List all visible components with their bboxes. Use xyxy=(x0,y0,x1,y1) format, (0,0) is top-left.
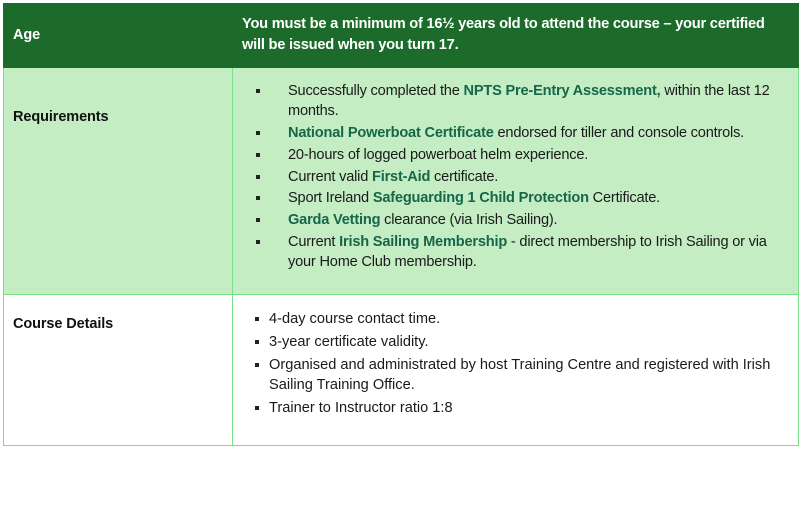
row-label-age: Age xyxy=(13,27,40,43)
row-label-cell-requirements: Requirements xyxy=(4,67,233,294)
list-item: National Powerboat Certificate endorsed … xyxy=(253,123,788,144)
course-requirements-table: Age You must be a minimum of 16½ years o… xyxy=(3,3,799,446)
list-item-text: endorsed for tiller and console controls… xyxy=(494,125,744,141)
list-item: Trainer to Instructor ratio 1:8 xyxy=(253,398,788,419)
row-content-cell-course-details: 4-day course contact time.3-year certifi… xyxy=(233,295,799,446)
list-item-accent-text: Garda Vetting xyxy=(288,212,380,228)
table-row-course-details: Course Details 4-day course contact time… xyxy=(4,295,799,446)
list-item-text: Current xyxy=(288,234,339,250)
list-item-text: Organised and administrated by host Trai… xyxy=(269,357,770,394)
list-item-text: Current valid xyxy=(288,169,372,185)
row-label-cell-course-details: Course Details xyxy=(4,295,233,446)
list-item-accent-text: First-Aid xyxy=(372,169,430,185)
row-label-requirements: Requirements xyxy=(13,109,109,125)
list-item-accent-text: Irish Sailing Membership xyxy=(339,234,507,250)
list-item: 20-hours of logged powerboat helm experi… xyxy=(253,145,788,166)
list-item-accent-text: National Powerboat Certificate xyxy=(288,125,494,141)
list-item: Garda Vetting clearance (via Irish Saili… xyxy=(253,210,788,231)
list-item-text: certificate. xyxy=(430,169,498,185)
row-label-cell-age: Age xyxy=(4,4,233,68)
list-item-text: Sport Ireland xyxy=(288,190,373,206)
row-content-cell-requirements: Successfully completed the NPTS Pre-Entr… xyxy=(233,67,799,294)
list-item: Current Irish Sailing Membership - direc… xyxy=(253,232,788,273)
list-item: Organised and administrated by host Trai… xyxy=(253,355,788,396)
list-item-text: Certificate. xyxy=(589,190,660,206)
row-label-course-details: Course Details xyxy=(13,316,113,332)
list-item: Sport Ireland Safeguarding 1 Child Prote… xyxy=(253,188,788,209)
list-item: 4-day course contact time. xyxy=(253,309,788,330)
requirements-list: Successfully completed the NPTS Pre-Entr… xyxy=(253,81,788,273)
list-item: Current valid First-Aid certificate. xyxy=(253,167,788,188)
list-item-text: 20-hours of logged powerboat helm experi… xyxy=(288,147,588,163)
table-row-requirements: Requirements Successfully completed the … xyxy=(4,67,799,294)
list-item-accent-text: Safeguarding 1 Child Protection xyxy=(373,190,589,206)
list-item-accent-text: NPTS Pre-Entry Assessment, xyxy=(464,83,661,99)
list-item-text: 4-day course contact time. xyxy=(269,311,440,327)
list-item: 3-year certificate validity. xyxy=(253,332,788,353)
list-item-text: Trainer to Instructor ratio 1:8 xyxy=(269,400,453,416)
list-item-text: 3-year certificate validity. xyxy=(269,334,429,350)
row-content-cell-age: You must be a minimum of 16½ years old t… xyxy=(233,4,799,68)
list-item: Successfully completed the NPTS Pre-Entr… xyxy=(253,81,788,122)
course-requirements-table-wrapper: Age You must be a minimum of 16½ years o… xyxy=(3,3,798,446)
table-row-age: Age You must be a minimum of 16½ years o… xyxy=(4,4,799,68)
list-item-text: Successfully completed the xyxy=(288,83,464,99)
course-details-list: 4-day course contact time.3-year certifi… xyxy=(253,309,788,419)
list-item-text: clearance (via Irish Sailing). xyxy=(380,212,557,228)
age-requirement-text: You must be a minimum of 16½ years old t… xyxy=(242,14,786,57)
